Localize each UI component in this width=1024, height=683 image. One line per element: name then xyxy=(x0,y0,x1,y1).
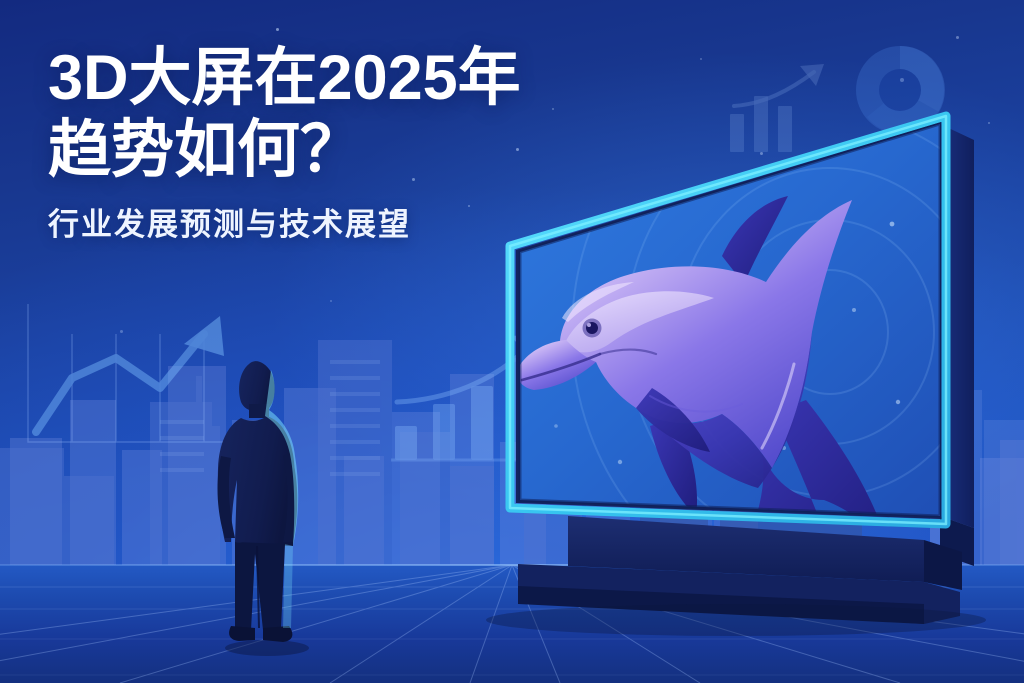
page-subtitle: 行业发展预测与技术展望 xyxy=(48,206,748,245)
poster-canvas: 3D大屏在2025年 趋势如何？ 行业发展预测与技术展望 xyxy=(0,0,1024,683)
page-title-line-2: 趋势如何？ xyxy=(48,116,748,184)
headline-block: 3D大屏在2025年 趋势如何？ 行业发展预测与技术展望 xyxy=(48,44,748,245)
page-title-line-1: 3D大屏在2025年 xyxy=(48,44,748,112)
viewer-silhouette xyxy=(205,356,325,656)
